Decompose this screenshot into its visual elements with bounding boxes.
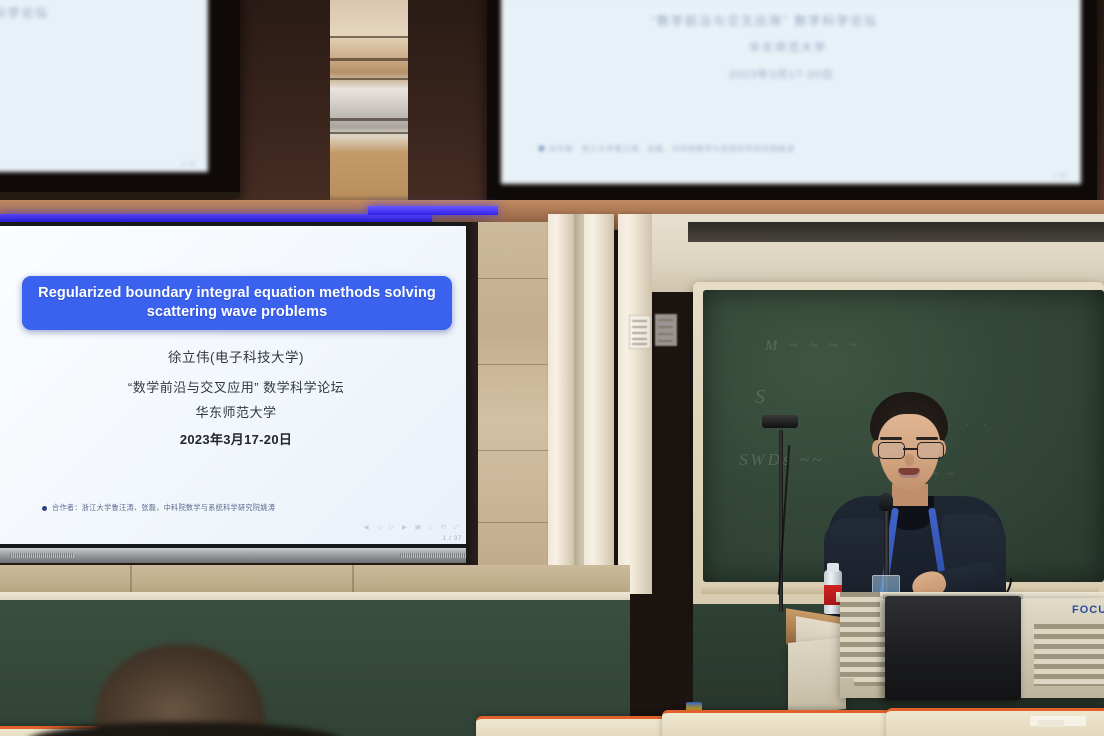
lecture-hall-photo: ” 数学科学论坛 范大学 7-20日 究院姚涛 1 / 37 “数学前沿与交叉应… [0, 0, 1104, 736]
wall-placard-1 [629, 315, 651, 349]
ceiling-gap [330, 0, 408, 212]
slide-surface: Regularized boundary integral equation m… [0, 226, 472, 544]
slide-author: 徐立伟(电子科技大学) [0, 346, 472, 366]
slide-navigation-icons[interactable]: ◀ ◁ ▷ ▶ ▣ ⌂ ⟲ ⤢ [364, 523, 462, 532]
slide-university: 华东师范大学 [0, 402, 472, 421]
slide-collaborators: 合作者：浙江大学鲁汪涛、张磊，中科院数学与系统科学研究院姚涛 [52, 503, 452, 513]
monitor-right-line4: 合作者：浙江大学鲁汪涛、张磊，中科院数学与系统科学研究院姚涛 [549, 144, 795, 154]
bullet-icon [42, 506, 47, 511]
display-speaker-grille-right [400, 553, 470, 558]
wall-pillar-2 [584, 214, 614, 594]
glasses-lens-right [917, 442, 944, 459]
slide-page-indicator: 1 / 37 [443, 535, 462, 542]
glasses-lens-left [878, 442, 905, 459]
foreground-desk-2 [662, 710, 896, 736]
cork-seam-2 [352, 565, 354, 595]
slide-title-banner: Regularized boundary integral equation m… [22, 276, 452, 330]
monitor-left-page-indicator: 1 / 37 [181, 162, 196, 168]
wall-tile-column [478, 222, 548, 582]
speaker-nose [905, 454, 914, 466]
monitor-right-page-indicator: 1 / 37 [1052, 174, 1067, 180]
monitor-right-line3: 2023年3月17-20日 [729, 66, 834, 82]
right-wall-dark-band [688, 222, 1104, 242]
glasses-bridge [903, 448, 917, 450]
wall-pillar-1 [548, 214, 574, 594]
cork-board-band [0, 565, 630, 595]
overhead-monitor-left-screen: ” 数学科学论坛 范大学 7-20日 究院姚涛 1 / 37 [0, 0, 208, 172]
podium-side-panel [788, 637, 846, 715]
overhead-monitor-right-screen: “数学前沿与交叉应用” 数学科学论坛 华东师范大学 2023年3月17-20日 … [501, 0, 1081, 184]
speaker-eyebrow-right [916, 437, 938, 440]
overhead-monitor-left: ” 数学科学论坛 范大学 7-20日 究院姚涛 1 / 37 [0, 0, 240, 198]
monitor-left-line1: ” 数学科学论坛 [0, 4, 49, 21]
water-bottle-cap [827, 563, 839, 572]
monitor-right-line2: 华东师范大学 [749, 39, 827, 55]
chalk-mark-1: M ~ ~ ~ ~ [765, 338, 861, 355]
presentation-display: Regularized boundary integral equation m… [0, 222, 484, 562]
podium-vent-right [1034, 624, 1104, 686]
slide-title-line1: Regularized boundary integral equation m… [28, 284, 446, 303]
speaker-eyebrow-left [880, 437, 902, 440]
podium-brand-logo: FOCUS [1072, 604, 1104, 616]
microphone-icon [879, 493, 893, 511]
podium-vent-edge [840, 592, 880, 678]
led-light-strip-upper [368, 206, 498, 215]
slide-forum: “数学前沿与交叉应用” 数学科学论坛 [0, 377, 472, 396]
slide-title-line2: scattering wave problems [28, 303, 446, 322]
wall-pillar-3 [618, 214, 652, 594]
led-light-strip [0, 214, 432, 222]
slide-dates: 2023年3月17-20日 [0, 429, 472, 448]
overhead-monitor-right: “数学前沿与交叉应用” 数学科学论坛 华东师范大学 2023年3月17-20日 … [487, 0, 1097, 206]
display-speaker-grille-left [10, 553, 74, 558]
cork-seam-1 [130, 565, 132, 595]
chalk-mark-2: S [755, 386, 765, 409]
laptop [885, 596, 1021, 700]
speaker-mouth [898, 468, 920, 478]
wall-pillar-gap [574, 214, 584, 594]
foreground-desk-1 [476, 716, 676, 736]
monitor-right-bullet-icon [539, 146, 544, 151]
wall-placard-2 [655, 314, 677, 346]
desk-paper-secondary [1038, 720, 1064, 727]
monitor-right-line1: “数学前沿与交叉应用” 数学科学论坛 [651, 12, 878, 29]
camera-icon [762, 415, 798, 428]
